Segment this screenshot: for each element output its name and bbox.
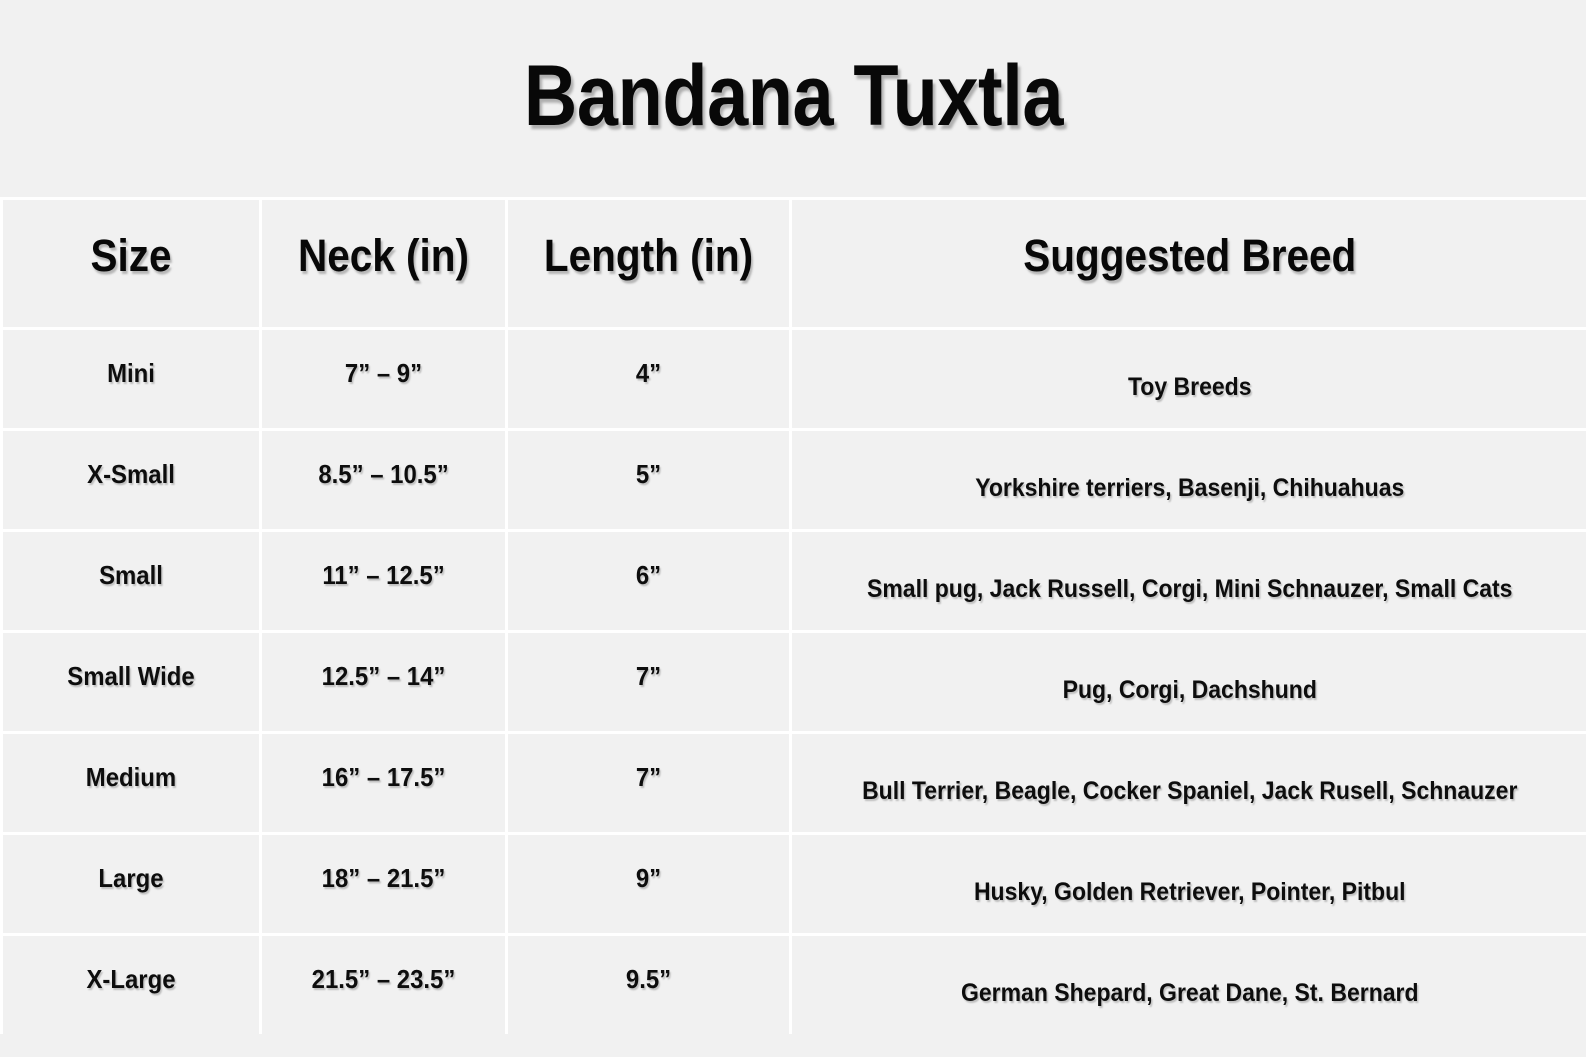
cell-length-value: 9.5” bbox=[519, 936, 778, 992]
cell-size: Medium bbox=[2, 733, 261, 834]
cell-length-value: 4” bbox=[519, 330, 778, 386]
column-header-breed-label: Suggested Breed bbox=[832, 200, 1548, 278]
cell-breed-value: Husky, Golden Retriever, Pointer, Pitbul bbox=[824, 835, 1556, 905]
cell-neck: 16” – 17.5” bbox=[261, 733, 507, 834]
cell-neck-value: 16” – 17.5” bbox=[272, 734, 496, 790]
cell-breed: Small pug, Jack Russell, Corgi, Mini Sch… bbox=[791, 531, 1586, 632]
column-header-size: Size bbox=[2, 199, 261, 329]
cell-neck-value: 11” – 12.5” bbox=[272, 532, 496, 588]
cell-neck-value: 18” – 21.5” bbox=[272, 835, 496, 891]
cell-breed-value: Small pug, Jack Russell, Corgi, Mini Sch… bbox=[824, 532, 1556, 602]
table-header: Size Neck (in) Length (in) Suggested Bre… bbox=[2, 199, 1586, 329]
cell-size: Mini bbox=[2, 329, 261, 430]
table-row: X-Large 21.5” – 23.5” 9.5” German Shepar… bbox=[2, 935, 1586, 1035]
cell-neck: 12.5” – 14” bbox=[261, 632, 507, 733]
cell-neck-value: 21.5” – 23.5” bbox=[272, 936, 496, 992]
cell-breed-value: Toy Breeds bbox=[824, 330, 1556, 400]
table-row: Medium 16” – 17.5” 7” Bull Terrier, Beag… bbox=[2, 733, 1586, 834]
cell-breed-value: Bull Terrier, Beagle, Cocker Spaniel, Ja… bbox=[824, 734, 1556, 804]
cell-size-value: X-Small bbox=[13, 431, 249, 487]
table-row: Small Wide 12.5” – 14” 7” Pug, Corgi, Da… bbox=[2, 632, 1586, 733]
cell-length-value: 7” bbox=[519, 633, 778, 689]
column-header-length-label: Length (in) bbox=[522, 200, 775, 278]
column-header-breed: Suggested Breed bbox=[791, 199, 1586, 329]
cell-length-value: 7” bbox=[519, 734, 778, 790]
cell-neck-value: 12.5” – 14” bbox=[272, 633, 496, 689]
cell-length-value: 6” bbox=[519, 532, 778, 588]
column-header-neck: Neck (in) bbox=[261, 199, 507, 329]
cell-neck: 7” – 9” bbox=[261, 329, 507, 430]
cell-size: X-Large bbox=[2, 935, 261, 1035]
column-header-length: Length (in) bbox=[507, 199, 791, 329]
page-title: Bandana Tuxtla bbox=[523, 53, 1062, 139]
cell-length: 9” bbox=[507, 834, 791, 935]
table-header-row: Size Neck (in) Length (in) Suggested Bre… bbox=[2, 199, 1586, 329]
cell-breed: Husky, Golden Retriever, Pointer, Pitbul bbox=[791, 834, 1586, 935]
cell-length: 5” bbox=[507, 430, 791, 531]
cell-breed: Yorkshire terriers, Basenji, Chihuahuas bbox=[791, 430, 1586, 531]
cell-neck: 18” – 21.5” bbox=[261, 834, 507, 935]
cell-size: X-Small bbox=[2, 430, 261, 531]
cell-breed: Bull Terrier, Beagle, Cocker Spaniel, Ja… bbox=[791, 733, 1586, 834]
cell-breed-value: Yorkshire terriers, Basenji, Chihuahuas bbox=[824, 431, 1556, 501]
cell-length: 7” bbox=[507, 733, 791, 834]
table-row: Small 11” – 12.5” 6” Small pug, Jack Rus… bbox=[2, 531, 1586, 632]
table-row: Mini 7” – 9” 4” Toy Breeds bbox=[2, 329, 1586, 430]
cell-neck: 8.5” – 10.5” bbox=[261, 430, 507, 531]
column-header-size-label: Size bbox=[16, 200, 246, 278]
cell-size-value: Small Wide bbox=[13, 633, 249, 689]
cell-size-value: Large bbox=[13, 835, 249, 891]
cell-size: Small bbox=[2, 531, 261, 632]
cell-length-value: 9” bbox=[519, 835, 778, 891]
cell-breed: German Shepard, Great Dane, St. Bernard bbox=[791, 935, 1586, 1035]
cell-length: 6” bbox=[507, 531, 791, 632]
cell-neck-value: 7” – 9” bbox=[272, 330, 496, 386]
cell-breed: Pug, Corgi, Dachshund bbox=[791, 632, 1586, 733]
cell-length: 4” bbox=[507, 329, 791, 430]
cell-neck: 11” – 12.5” bbox=[261, 531, 507, 632]
cell-size-value: Medium bbox=[13, 734, 249, 790]
cell-breed-value: Pug, Corgi, Dachshund bbox=[824, 633, 1556, 703]
cell-breed-value: German Shepard, Great Dane, St. Bernard bbox=[824, 936, 1556, 1006]
cell-neck-value: 8.5” – 10.5” bbox=[272, 431, 496, 487]
cell-length-value: 5” bbox=[519, 431, 778, 487]
cell-length: 9.5” bbox=[507, 935, 791, 1035]
cell-size: Small Wide bbox=[2, 632, 261, 733]
cell-neck: 21.5” – 23.5” bbox=[261, 935, 507, 1035]
table-row: X-Small 8.5” – 10.5” 5” Yorkshire terrie… bbox=[2, 430, 1586, 531]
table-row: Large 18” – 21.5” 9” Husky, Golden Retri… bbox=[2, 834, 1586, 935]
cell-breed: Toy Breeds bbox=[791, 329, 1586, 430]
size-chart-table: Size Neck (in) Length (in) Suggested Bre… bbox=[0, 197, 1586, 1034]
cell-size-value: X-Large bbox=[13, 936, 249, 992]
cell-size: Large bbox=[2, 834, 261, 935]
title-area: Bandana Tuxtla bbox=[0, 0, 1586, 197]
table-body: Mini 7” – 9” 4” Toy Breeds X-Small 8.5” … bbox=[2, 329, 1586, 1035]
cell-length: 7” bbox=[507, 632, 791, 733]
size-chart-page: Bandana Tuxtla Size Neck (in) Length (in… bbox=[0, 0, 1586, 1057]
cell-size-value: Small bbox=[13, 532, 249, 588]
column-header-neck-label: Neck (in) bbox=[274, 200, 493, 278]
cell-size-value: Mini bbox=[13, 330, 249, 386]
